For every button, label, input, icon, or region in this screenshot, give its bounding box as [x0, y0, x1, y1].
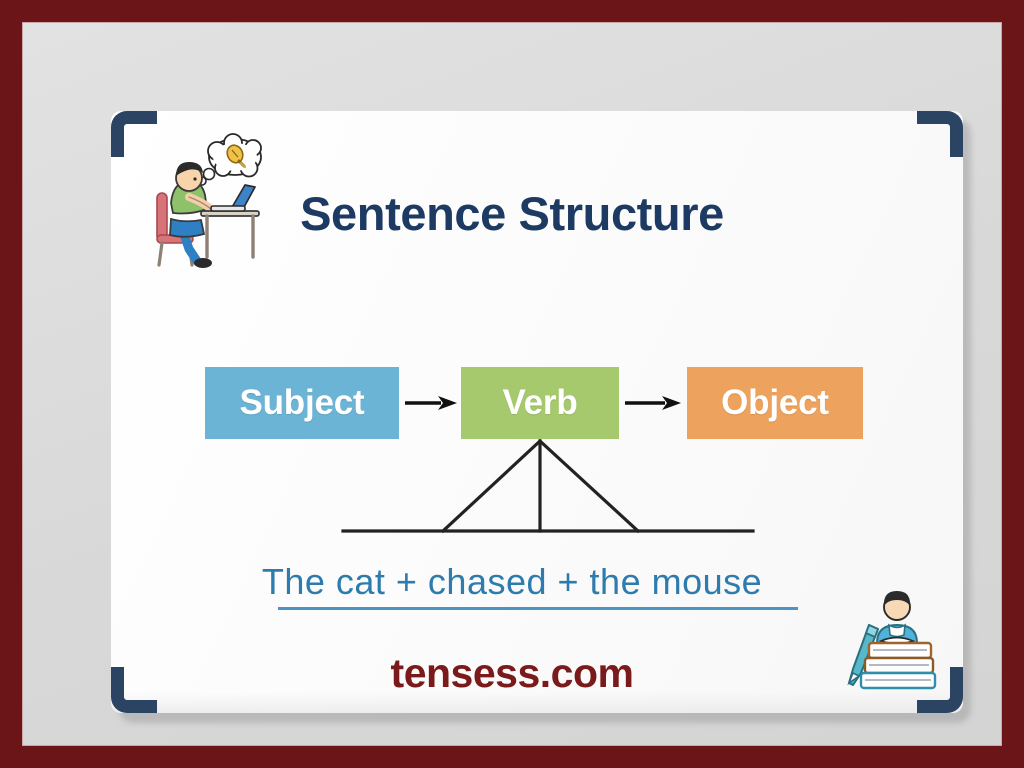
corner-bracket-top-right [917, 111, 963, 157]
page-title: Sentence Structure [23, 186, 1001, 241]
arrow-subject-to-verb-icon [405, 395, 457, 411]
corner-bracket-top-left [111, 111, 157, 157]
flow-box-object[interactable]: Object [687, 367, 863, 439]
flow-box-verb[interactable]: Verb [461, 367, 619, 439]
boy-icon [877, 591, 917, 644]
flow-box-verb-label: Verb [502, 383, 577, 423]
tree-right-branch [540, 441, 638, 531]
example-sentence-underline [278, 607, 798, 610]
flow-box-subject[interactable]: Subject [205, 367, 399, 439]
tree-left-branch [443, 441, 540, 531]
sentence-tree-diagram [323, 433, 763, 543]
corner-bracket-bottom-right [917, 667, 963, 713]
outer-frame: Sentence Structure Subject Verb Object [0, 0, 1024, 768]
corner-bracket-bottom-left [111, 667, 157, 713]
flow-box-object-label: Object [721, 383, 829, 423]
page-canvas: Sentence Structure Subject Verb Object [22, 22, 1002, 746]
flow-box-subject-label: Subject [239, 383, 364, 423]
arrow-verb-to-object-icon [625, 395, 681, 411]
